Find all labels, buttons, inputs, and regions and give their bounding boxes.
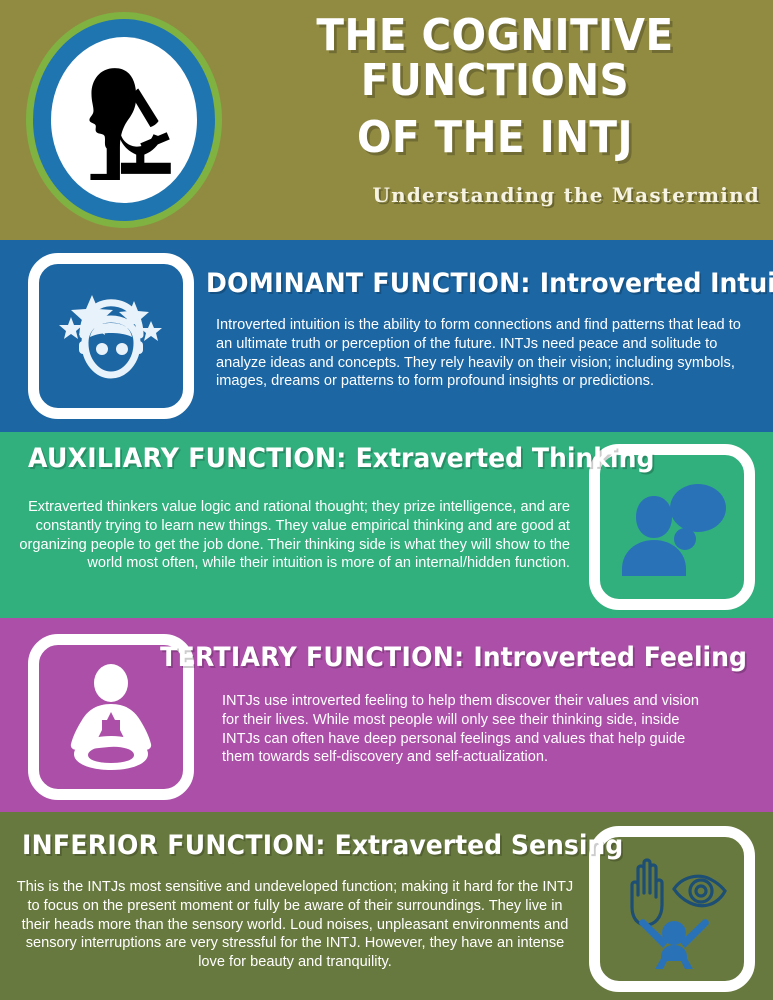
person-arms-raised-icon — [639, 919, 709, 969]
logo-ring-inner — [33, 19, 215, 221]
dominant-heading-name: Introverted Intuition — [540, 268, 773, 299]
head-profile-microscope-icon — [72, 60, 176, 180]
poster-subtitle: Understanding the Mastermind — [230, 183, 760, 207]
section-auxiliary: AUXILIARY FUNCTION: Extraverted Thinking… — [0, 432, 773, 618]
tertiary-body-text: INTJs use introverted feeling to help th… — [222, 692, 720, 767]
poster-header: THE COGNITIVE FUNCTIONS OF THE INTJ Unde… — [0, 0, 773, 240]
tertiary-heading-label: TERTIARY FUNCTION: — [160, 642, 473, 673]
section-tertiary: TERTIARY FUNCTION: Introverted Feeling I… — [0, 618, 773, 812]
section-inferior: INFERIOR FUNCTION: Extraverted Sensing T… — [0, 812, 773, 1000]
meditating-person-icon — [52, 658, 170, 776]
section-dominant: DOMINANT FUNCTION: Introverted Intuition… — [0, 240, 773, 432]
inferior-heading: INFERIOR FUNCTION: Extraverted Sensing — [22, 832, 623, 859]
inferior-heading-label: INFERIOR FUNCTION: — [22, 830, 335, 861]
dominant-icon-badge — [28, 253, 194, 419]
dominant-heading-label: DOMINANT FUNCTION: — [206, 268, 540, 299]
dominant-body-text: Introverted intuition is the ability to … — [216, 316, 758, 391]
poster-title-line2: OF THE INTJ — [251, 116, 739, 161]
header-title-block: THE COGNITIVE FUNCTIONS OF THE INTJ Unde… — [230, 14, 760, 207]
hand-icon — [632, 860, 662, 925]
eye-icon — [674, 876, 725, 905]
tertiary-heading: TERTIARY FUNCTION: Introverted Feeling — [160, 644, 747, 671]
auxiliary-body-text: Extraverted thinkers value logic and rat… — [14, 498, 570, 573]
dominant-heading: DOMINANT FUNCTION: Introverted Intuition — [206, 270, 773, 297]
auxiliary-heading-label: AUXILIARY FUNCTION: — [28, 443, 356, 474]
hand-eye-person-senses-icon — [612, 849, 732, 969]
poster-title-line1: THE COGNITIVE FUNCTIONS — [251, 14, 739, 104]
auxiliary-heading: AUXILIARY FUNCTION: Extraverted Thinking — [28, 445, 654, 472]
inferior-body-text: This is the INTJs most sensitive and und… — [12, 878, 578, 972]
logo-face — [51, 37, 197, 203]
logo-badge — [26, 12, 222, 228]
auxiliary-heading-name: Extraverted Thinking — [356, 443, 655, 474]
infographic-poster: THE COGNITIVE FUNCTIONS OF THE INTJ Unde… — [0, 0, 773, 1000]
tertiary-heading-name: Introverted Feeling — [473, 642, 747, 673]
person-thought-bubble-icon — [612, 468, 732, 586]
inferior-heading-name: Extraverted Sensing — [335, 830, 624, 861]
head-with-stars-icon — [52, 277, 170, 395]
